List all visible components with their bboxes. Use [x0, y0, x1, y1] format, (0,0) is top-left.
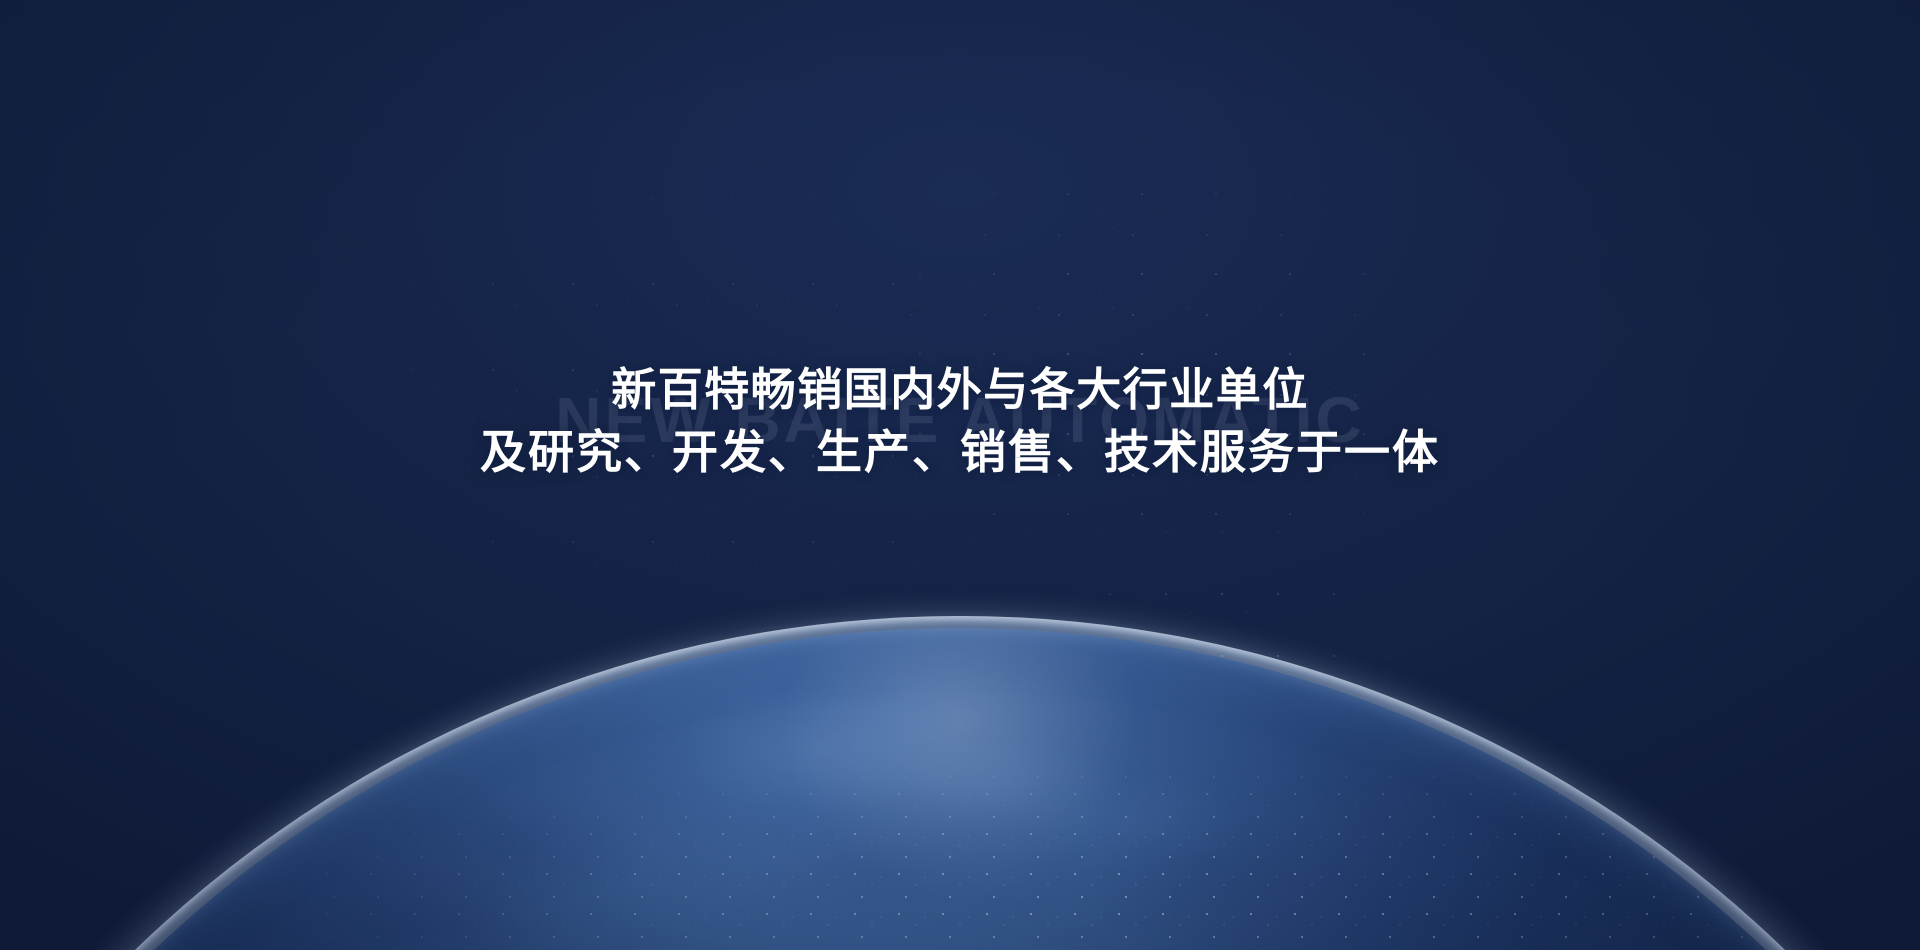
earth-terrain	[0, 628, 1920, 950]
city-lights-speckle	[0, 628, 1920, 950]
atmospheric-warm-halo-icon	[0, 612, 1920, 950]
headline-line-1: 新百特畅销国内外与各大行业单位	[0, 358, 1920, 421]
earth-nightside-shadow	[0, 628, 1920, 950]
particle-dust-field-lower	[1040, 520, 1460, 850]
particle-dust-field-left	[380, 60, 1160, 620]
headline-line-2: 及研究、开发、生产、销售、技术服务于一体	[0, 421, 1920, 484]
hero-banner: NEW BAITE AUTOMATIC 新百特畅销国内外与各大行业单位 及研究、…	[0, 0, 1920, 950]
atmospheric-halo-icon	[0, 600, 1920, 950]
headline-group: 新百特畅销国内外与各大行业单位 及研究、开发、生产、销售、技术服务于一体	[0, 358, 1920, 484]
earth-sphere	[0, 628, 1920, 950]
atmospheric-limb-glow	[0, 616, 1920, 950]
